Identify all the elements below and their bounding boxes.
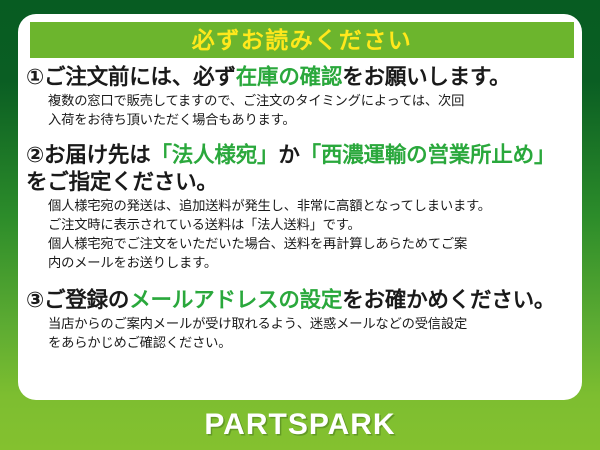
notice-item-2-head-part-4: をご指定ください。 <box>26 170 218 194</box>
notice-item-2-head-part-1-highlight: 「法人様宛」 <box>151 143 279 167</box>
notice-item-2-subline-3: 内のメールをお送りします。 <box>48 254 574 273</box>
notice-item-3-head-part-1-highlight: メールアドレスの設定 <box>129 288 342 312</box>
notice-item-2-head-part-3-highlight: 「西濃運輸の営業所止め」 <box>300 143 556 167</box>
notice-item-2: ②お届け先は「法人様宛」か「西濃運輸の営業所止め」をご指定ください。 個人様宅宛… <box>26 142 574 272</box>
brand-name: PARTSPARK <box>204 408 395 442</box>
notice-item-3-number: ③ <box>26 288 44 312</box>
notice-header-banner: 必ずお読みください <box>30 22 574 58</box>
notice-item-2-head-part-0: お届け先は <box>44 143 151 167</box>
notice-item-3: ③ご登録のメールアドレスの設定をお確かめください。 当店からのご案内メールが受け… <box>26 287 574 353</box>
notice-item-3-subline-0: 当店からのご案内メールが受け取れるよう、迷惑メールなどの受信設定 <box>48 315 574 334</box>
notice-item-1-head-part-0: ご注文前には、必ず <box>44 65 236 89</box>
notice-item-2-subtext: 個人様宅宛の発送は、追加送料が発生し、非常に高額となってしまいます。 ご注文時に… <box>48 197 574 273</box>
notice-item-2-head-part-2: か <box>278 143 299 167</box>
notice-item-2-headline: ②お届け先は「法人様宛」か「西濃運輸の営業所止め」をご指定ください。 <box>26 142 574 195</box>
notice-item-1-subtext: 複数の窓口で販売してますので、ご注文のタイミングによっては、次回 入荷をお待ち頂… <box>48 92 574 130</box>
notice-item-3-head-part-2: をお確かめください。 <box>342 288 555 312</box>
banner-title: 必ずお読みください <box>192 29 413 52</box>
notice-item-1-head-part-2: をお願いします。 <box>342 65 510 89</box>
notice-item-2-subline-0: 個人様宅宛の発送は、追加送料が発生し、非常に高額となってしまいます。 <box>48 197 574 216</box>
notice-banner-image: 必ずお読みください ①ご注文前には、必ず在庫の確認をお願いします。 複数の窓口で… <box>0 0 600 450</box>
notice-item-3-headline: ③ご登録のメールアドレスの設定をお確かめください。 <box>26 287 574 313</box>
notice-item-1-subline-1: 入荷をお待ち頂いただく場合もあります。 <box>48 111 574 130</box>
notice-item-1-head-part-1-highlight: 在庫の確認 <box>236 65 343 89</box>
footer-brand-bar: PARTSPARK <box>0 400 600 450</box>
notice-item-3-subtext: 当店からのご案内メールが受け取れるよう、迷惑メールなどの受信設定 をあらかじめご… <box>48 315 574 353</box>
notice-item-3-head-part-0: ご登録の <box>44 288 129 312</box>
notice-item-1-number: ① <box>26 65 44 89</box>
notice-item-1-subline-0: 複数の窓口で販売してますので、ご注文のタイミングによっては、次回 <box>48 92 574 111</box>
notice-item-1: ①ご注文前には、必ず在庫の確認をお願いします。 複数の窓口で販売してますので、ご… <box>26 64 574 130</box>
notice-items-list: ①ご注文前には、必ず在庫の確認をお願いします。 複数の窓口で販売してますので、ご… <box>18 62 582 392</box>
notice-item-3-subline-1: をあらかじめご確認ください。 <box>48 334 574 353</box>
notice-item-2-subline-2: 個人様宅宛でご注文をいただいた場合、送料を再計算しあらためてご案 <box>48 235 574 254</box>
notice-item-2-subline-1: ご注文時に表示されている送料は「法人送料」です。 <box>48 216 574 235</box>
notice-item-2-number: ② <box>26 143 44 167</box>
notice-item-1-headline: ①ご注文前には、必ず在庫の確認をお願いします。 <box>26 64 574 90</box>
